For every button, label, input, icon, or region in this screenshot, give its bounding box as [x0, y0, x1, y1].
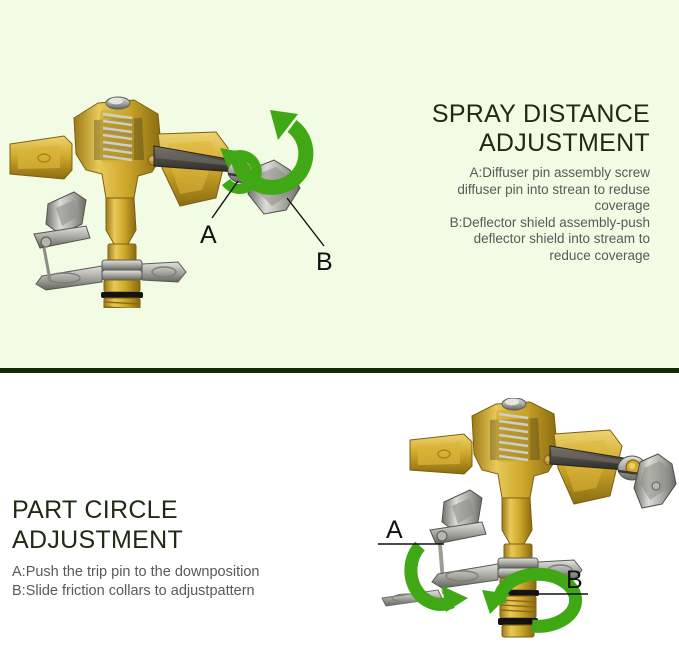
body-line: A:Diffuser pin assembly screw — [370, 165, 650, 182]
trip-pin-assembly-bottom — [382, 490, 486, 606]
spray-distance-figure: A B — [2, 48, 352, 308]
body-line: diffuser pin into strean to reduse — [370, 182, 650, 199]
body-line: coverage — [370, 198, 650, 215]
heading-line-2: ADJUSTMENT — [370, 129, 650, 158]
label-a-top: A — [200, 221, 217, 249]
heading-line-2: ADJUSTMENT — [12, 525, 412, 555]
part-circle-figure: A B — [372, 398, 677, 648]
body-line: A:Push the trip pin to the downposition — [12, 563, 412, 582]
callout-b-top: B — [287, 198, 333, 276]
body-line: reduce coverage — [370, 248, 650, 265]
body-line: deflector shield into stream to — [370, 231, 650, 248]
body-line: B:Slide friction collars to adjustpatter… — [12, 582, 412, 601]
sprinkler-body-top — [10, 97, 228, 244]
label-b-top: B — [316, 248, 333, 276]
threaded-stem-top — [36, 244, 186, 308]
heading-line-1: PART CIRCLE — [12, 495, 412, 525]
body-line: B:Deflector shield assembly-push — [370, 215, 650, 232]
sprinkler-illustration-top: A B — [2, 48, 352, 308]
thread-grooves — [104, 298, 140, 308]
label-b-bottom: B — [566, 566, 583, 594]
part-circle-text: PART CIRCLE ADJUSTMENT A:Push the trip p… — [12, 495, 412, 601]
trip-pin-assembly-top — [34, 192, 90, 280]
part-circle-heading: PART CIRCLE ADJUSTMENT — [12, 495, 412, 555]
deflector-shield-bottom — [634, 454, 676, 508]
spray-distance-heading: SPRAY DISTANCE ADJUSTMENT — [370, 100, 650, 158]
label-a-bottom: A — [386, 516, 403, 544]
spray-distance-text: SPRAY DISTANCE ADJUSTMENT A:Diffuser pin… — [370, 100, 650, 264]
spray-distance-body: A:Diffuser pin assembly screw diffuser p… — [370, 165, 650, 264]
sprinkler-illustration-bottom: A B — [372, 398, 677, 648]
heading-line-1: SPRAY DISTANCE — [370, 100, 650, 129]
part-circle-body: A:Push the trip pin to the downposition … — [12, 563, 412, 601]
